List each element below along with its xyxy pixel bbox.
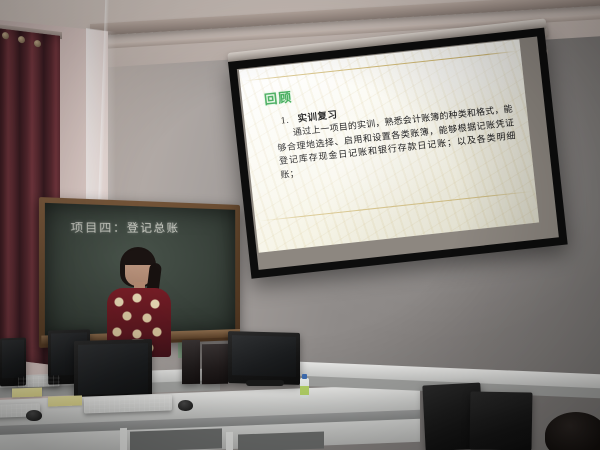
desk-divider bbox=[226, 432, 233, 450]
bottle-label bbox=[300, 386, 309, 395]
curtain-grommet bbox=[2, 32, 9, 40]
curtain-grommet bbox=[34, 40, 41, 48]
monitor[interactable] bbox=[469, 391, 532, 450]
mouse[interactable] bbox=[26, 410, 42, 421]
monitor-screen bbox=[232, 335, 296, 377]
bottle-cap bbox=[302, 374, 307, 379]
monitor[interactable] bbox=[228, 331, 300, 385]
chalk-writing: 项目四：登记总账 bbox=[70, 219, 219, 243]
mouse[interactable] bbox=[178, 400, 193, 411]
slide-bottom-rule bbox=[259, 191, 532, 222]
desk-cubby bbox=[130, 428, 222, 450]
desk-divider bbox=[120, 428, 127, 450]
pc-tower[interactable] bbox=[202, 344, 228, 384]
slide-item-number: 1. bbox=[280, 116, 289, 127]
pc-tower[interactable] bbox=[182, 340, 200, 384]
projector-screen[interactable]: 回顾 1. 实训复习 通过上一项目的实训，熟悉会计账簿的种类和格式，能够合理地选… bbox=[228, 28, 568, 279]
monitor-base bbox=[246, 380, 284, 386]
curtain-grommet bbox=[18, 36, 25, 44]
keyboard[interactable] bbox=[18, 375, 60, 387]
slide-title: 回顾 bbox=[263, 86, 293, 108]
paper-sheet[interactable] bbox=[48, 395, 82, 406]
hair-fringe bbox=[123, 250, 154, 265]
monitor-screen bbox=[78, 343, 148, 395]
classroom-photo: 项目四：登记总账 回顾 1. 实训复习 通过上一项目的实训，熟悉会计账簿的种类和… bbox=[0, 0, 600, 450]
foreground-student-head bbox=[545, 412, 600, 450]
keyboard[interactable] bbox=[84, 394, 172, 413]
projected-slide[interactable]: 回顾 1. 实训复习 通过上一项目的实训，熟悉会计账簿的种类和格式，能够合理地选… bbox=[239, 39, 539, 252]
slide-top-rule bbox=[244, 51, 517, 82]
paper-sheet[interactable] bbox=[12, 387, 42, 397]
monitor[interactable] bbox=[74, 339, 152, 403]
monitor-screen bbox=[2, 340, 24, 379]
desk-cubby bbox=[238, 431, 324, 450]
